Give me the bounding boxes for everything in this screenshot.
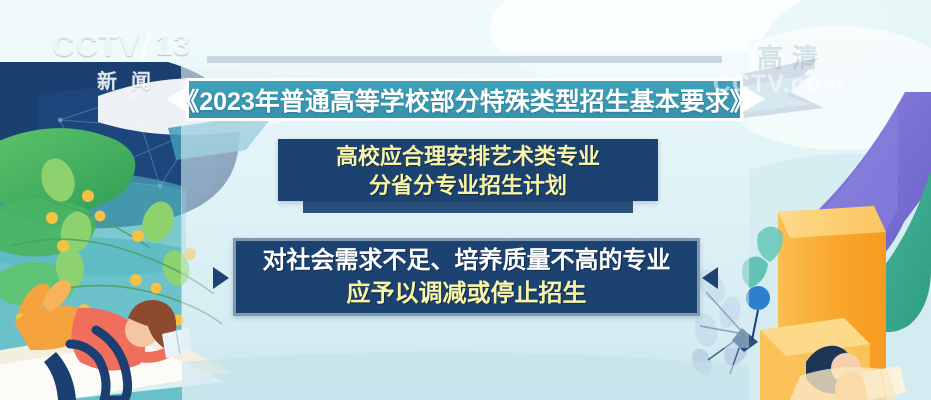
title-banner: 《2023年普通高等学校部分特殊类型招生基本要求》 (186, 78, 743, 121)
panel-top-rule (207, 56, 722, 63)
left-pointer-triangle-icon (213, 267, 229, 289)
message-box-1: 高校应合理安排艺术类专业 分省分专业招生计划 (278, 139, 658, 201)
right-pointer-triangle-icon (702, 267, 718, 289)
page-title: 《2023年普通高等学校部分特殊类型招生基本要求》 (174, 82, 755, 118)
message-1-line-2: 分省分专业招生计划 (369, 171, 567, 200)
broadcast-graphic: CCTV 13 新闻 高清 CCTV.com 《2023年普通高等学校部分特殊类… (0, 0, 931, 400)
message-2-line-2: 应予以调减或停止招生 (347, 277, 587, 310)
message-box-1-shadow (303, 201, 633, 213)
message-box-2: 对社会需求不足、培养质量不高的专业 应予以调减或停止招生 (233, 238, 700, 316)
message-1-line-1: 高校应合理安排艺术类专业 (336, 142, 600, 171)
message-2-line-1: 对社会需求不足、培养质量不高的专业 (263, 244, 671, 277)
